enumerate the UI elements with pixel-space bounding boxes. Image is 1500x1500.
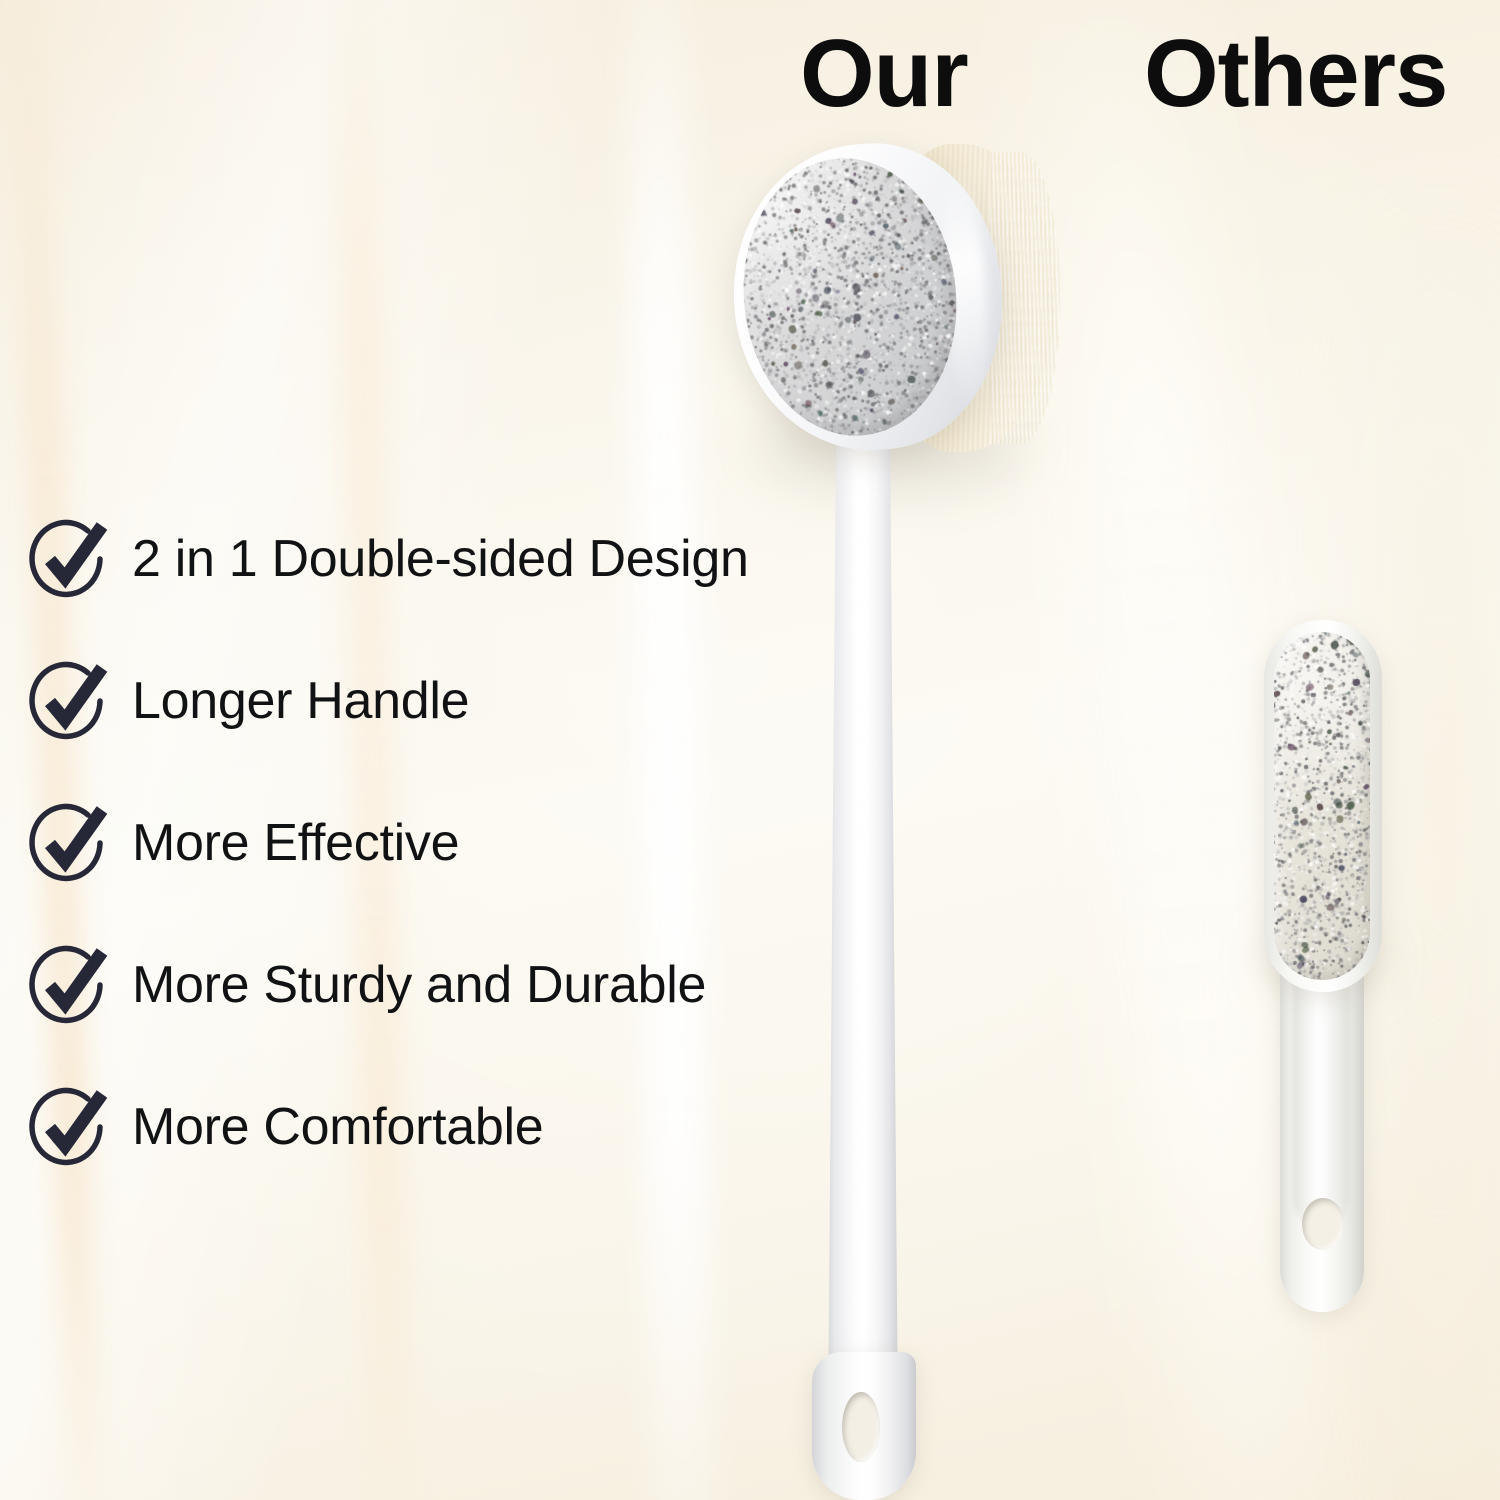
- column-heading-ours: Our: [800, 26, 968, 122]
- feature-label: More Effective: [132, 813, 459, 873]
- feature-item: Longer Handle: [28, 630, 828, 772]
- hanging-hole: [1302, 1198, 1344, 1250]
- feature-item: More Effective: [28, 772, 828, 914]
- our-brush-head: [726, 138, 1056, 458]
- feature-label: Longer Handle: [132, 671, 469, 731]
- hanging-hole: [842, 1392, 880, 1462]
- our-brush-handle: [828, 300, 898, 1430]
- product-comparison-image: Our Others 2 in 1 Double-sided Design Lo…: [0, 0, 1500, 1500]
- column-heading-others: Others: [1144, 26, 1447, 122]
- our-brush-hanging-loop: [812, 1352, 916, 1500]
- background-streak: [1380, 200, 1500, 1500]
- feature-item: More Sturdy and Durable: [28, 914, 828, 1056]
- feature-label: More Sturdy and Durable: [132, 955, 706, 1015]
- feature-item: More Comfortable: [28, 1056, 828, 1198]
- feature-item: 2 in 1 Double-sided Design: [28, 488, 828, 630]
- others-foot-file: [1258, 620, 1388, 1320]
- pumice-stone-disc: [730, 148, 970, 447]
- check-circle-icon: [28, 660, 110, 742]
- handle-highlight: [854, 310, 867, 1400]
- feature-label: 2 in 1 Double-sided Design: [132, 529, 749, 589]
- check-circle-icon: [28, 1086, 110, 1168]
- feature-label: More Comfortable: [132, 1097, 543, 1157]
- pumice-texture: [1274, 632, 1370, 980]
- others-pumice-pad: [1274, 632, 1370, 980]
- check-circle-icon: [28, 518, 110, 600]
- feature-list: 2 in 1 Double-sided Design Longer Handle…: [28, 488, 828, 1198]
- check-circle-icon: [28, 802, 110, 884]
- pumice-texture: [730, 148, 970, 447]
- check-circle-icon: [28, 944, 110, 1026]
